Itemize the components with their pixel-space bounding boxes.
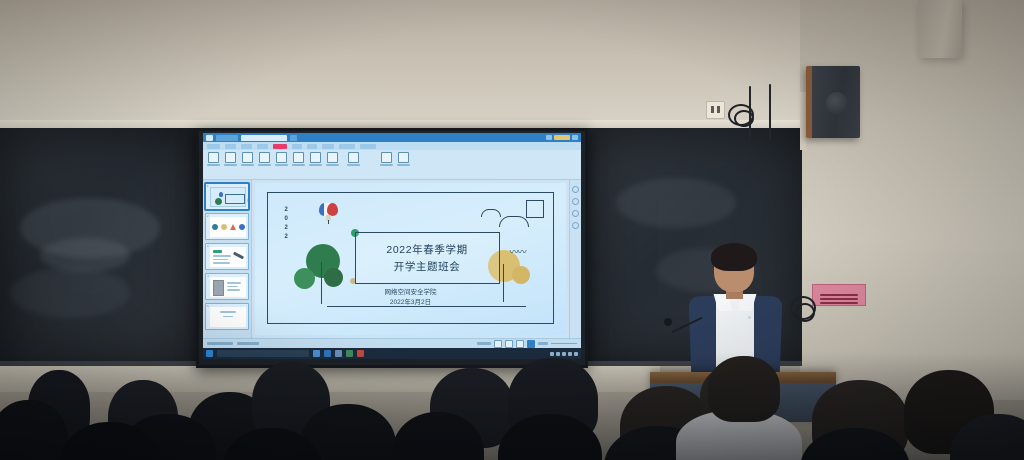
rail-icon-image[interactable] (572, 198, 579, 205)
view-normal-button[interactable] (494, 340, 502, 348)
ribbon-tab-tools[interactable] (322, 144, 334, 149)
ribbon-tab-view[interactable] (307, 144, 317, 149)
cable-coil-on-wall (790, 296, 816, 326)
editor-body: 1 2 (203, 180, 581, 338)
rail-icon-chart[interactable] (572, 210, 579, 217)
ribbon-button-rehearse[interactable] (292, 152, 305, 166)
ribbon-tab-review[interactable] (292, 144, 302, 149)
slide-thumbnail-number: 4 (207, 274, 209, 278)
ribbon-tab-cloud[interactable] (360, 144, 376, 149)
hot-air-balloon-icon (319, 203, 339, 225)
speaker-cone-icon (826, 92, 848, 114)
slide-ground-line (327, 306, 526, 307)
slide-subtitle-org: 网络空间安全学院 (255, 288, 566, 298)
close-icon[interactable] (572, 135, 578, 140)
view-reading-button[interactable] (516, 340, 524, 348)
slide-title-line2: 开学主题班会 (394, 259, 461, 274)
slide-canvas[interactable]: 2 0 2 2 (252, 180, 569, 338)
ribbon-tab-slideshow[interactable] (273, 144, 287, 149)
app-logo-icon (206, 135, 213, 141)
window-title-bar (203, 133, 581, 142)
wps-presentation-window: 1 2 (203, 133, 581, 359)
power-outlet (706, 101, 725, 119)
blackboard-left (0, 128, 196, 366)
ribbon-tab-file[interactable] (207, 144, 220, 149)
audience (0, 352, 1024, 460)
antenna-rod (769, 84, 771, 140)
slide-thumbnail-2[interactable]: 2 (205, 213, 249, 240)
view-sorter-button[interactable] (505, 340, 513, 348)
slide-thumbnail-number: 1 (207, 184, 209, 188)
cloud-icon (481, 209, 501, 217)
ribbon-button-laser[interactable] (397, 152, 410, 166)
ribbon-button-setup-show[interactable] (326, 152, 339, 166)
hair (711, 243, 757, 271)
sign-text-lines (820, 294, 858, 296)
tab-home[interactable] (216, 135, 238, 141)
rail-icon-more[interactable] (572, 222, 579, 229)
decor-square (526, 200, 544, 218)
status-language (237, 342, 259, 345)
wall-notice-sign (812, 284, 866, 306)
zoom-value (538, 342, 548, 345)
classroom-photo: 1 2 (0, 0, 1024, 460)
wall-mounted-unit (918, 0, 962, 58)
slide-thumbnail-number: 2 (207, 214, 209, 218)
right-tool-rail[interactable] (569, 180, 581, 338)
slide-title-box: 2022年春季学期 开学主题班会 (355, 232, 500, 284)
ribbon-tab-design[interactable] (257, 144, 268, 149)
new-tab-button[interactable] (290, 135, 297, 141)
ribbon-button-record[interactable] (309, 152, 322, 166)
ribbon-button-hide-slide[interactable] (275, 152, 288, 166)
tab-document[interactable] (241, 135, 287, 141)
slide-thumbnail-5[interactable]: 5 (205, 303, 249, 330)
status-bar (203, 338, 581, 348)
ribbon-button-screen-ratio[interactable] (347, 152, 360, 166)
year-digit: 2 (285, 225, 288, 231)
minimize-icon[interactable] (546, 135, 552, 140)
coiled-cable (734, 110, 754, 127)
zoom-slider[interactable] (551, 343, 577, 344)
ribbon-tab-strip (203, 142, 581, 150)
status-notes-label[interactable] (477, 342, 491, 345)
slide-title-line1: 2022年春季学期 (386, 242, 467, 257)
ribbon-button-custom-show[interactable] (241, 152, 254, 166)
slide-thumbnail-number: 3 (207, 244, 209, 248)
window-controls (546, 135, 578, 140)
status-slide-indicator (207, 342, 233, 345)
slide-thumbnail-3[interactable]: 3 (205, 243, 249, 270)
view-slideshow-button[interactable] (527, 340, 535, 348)
ribbon-tab-insert[interactable] (241, 144, 252, 149)
zigzag-decor: 〰〰 (510, 245, 526, 258)
slide-thumbnail-1[interactable]: 1 (205, 183, 249, 210)
right-wall (800, 0, 1024, 400)
rail-icon-design[interactable] (572, 186, 579, 193)
microphone-head-icon (664, 318, 672, 326)
year-digit: 0 (285, 216, 288, 222)
year-digit: 2 (285, 207, 288, 213)
ribbon-button-from-start[interactable] (207, 152, 220, 166)
lapel-pin (748, 316, 751, 319)
ribbon-button-ink-pen[interactable] (380, 152, 393, 166)
ribbon-tab-effects[interactable] (339, 144, 355, 149)
ribbon-button-presenter-view[interactable] (258, 152, 271, 166)
audience-head (708, 356, 780, 422)
wall-speaker (806, 66, 860, 138)
slide-thumbnail-panel[interactable]: 1 2 (203, 180, 252, 338)
year-digit: 2 (285, 234, 288, 240)
vertical-year-text: 2 0 2 2 (285, 207, 288, 240)
ribbon-tab-start[interactable] (225, 144, 236, 149)
slide-thumbnail-number: 5 (207, 304, 209, 308)
slide-subtitle: 网络空间安全学院 2022年3月2日 (255, 288, 566, 308)
slide-thumbnail-4[interactable]: 4 (205, 273, 249, 300)
slide-content: 2 0 2 2 (255, 183, 566, 335)
ribbon-button-from-current[interactable] (224, 152, 237, 166)
cloud-icon (499, 216, 529, 227)
ribbon-toolbar (203, 150, 581, 180)
account-chip[interactable] (554, 135, 570, 140)
projector-screen: 1 2 (203, 133, 581, 359)
